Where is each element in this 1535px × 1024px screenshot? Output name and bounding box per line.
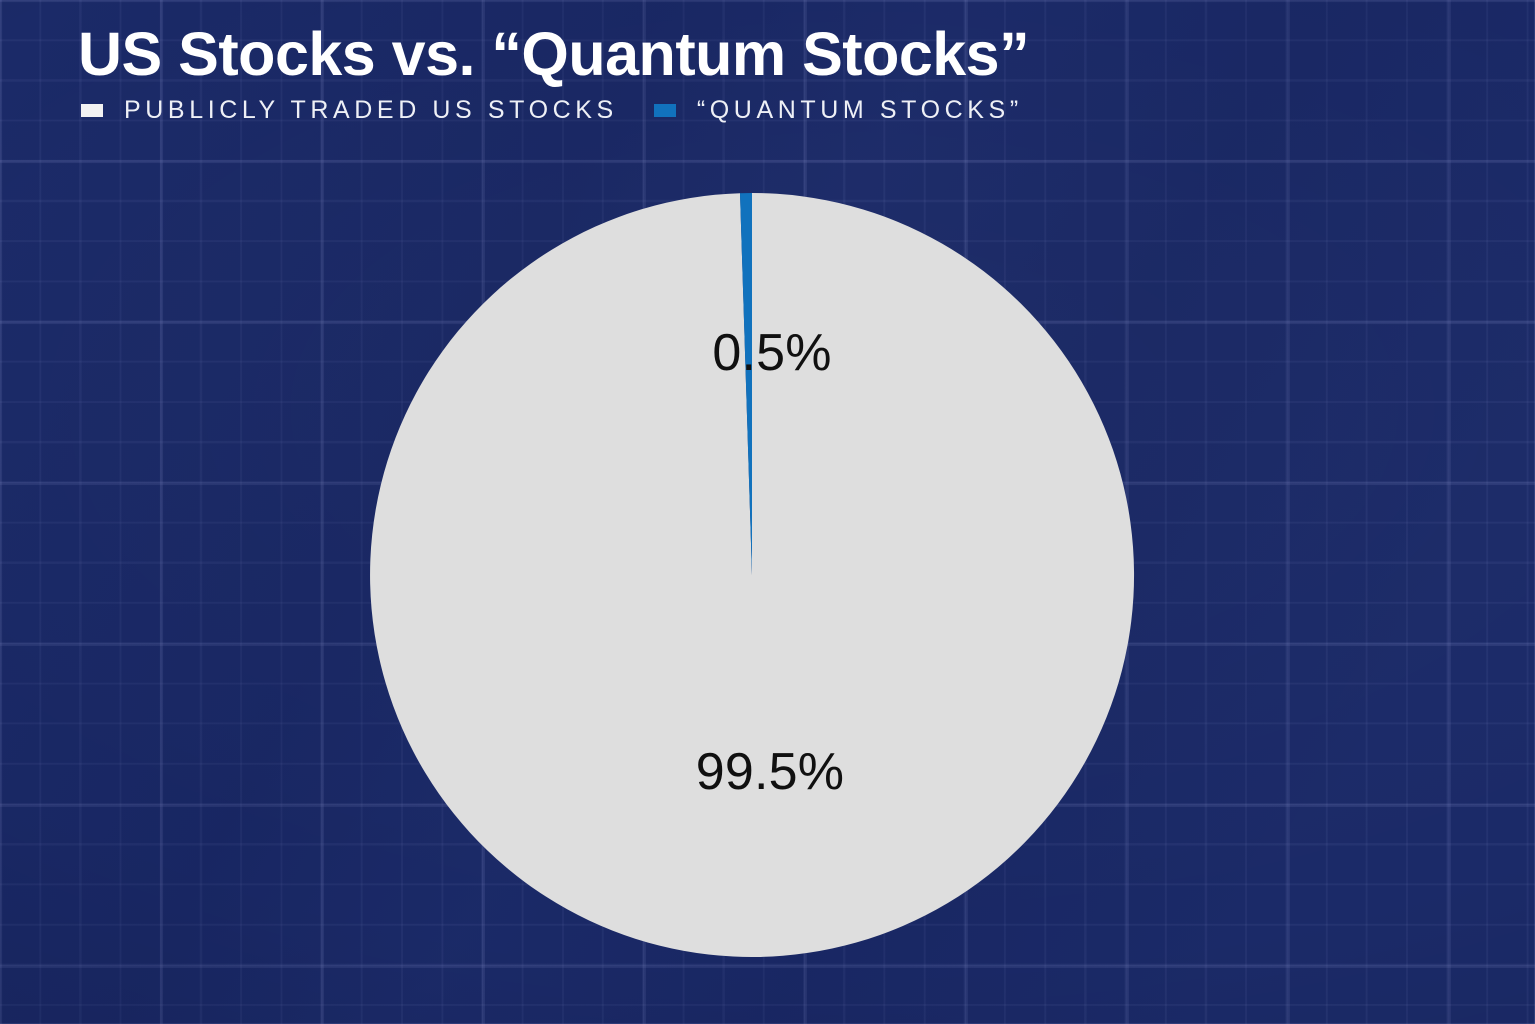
pie-chart: 0.5% 99.5% <box>0 0 1535 1024</box>
pie-slice[interactable] <box>370 193 1134 957</box>
slice-label-us-stocks: 99.5% <box>696 746 844 798</box>
slice-label-quantum-stocks: 0.5% <box>712 327 831 379</box>
pie-slice-group <box>370 193 1134 957</box>
pie-chart-svg <box>0 0 1535 1024</box>
chart-canvas: US Stocks vs. “Quantum Stocks” PUBLICLY … <box>0 0 1535 1024</box>
